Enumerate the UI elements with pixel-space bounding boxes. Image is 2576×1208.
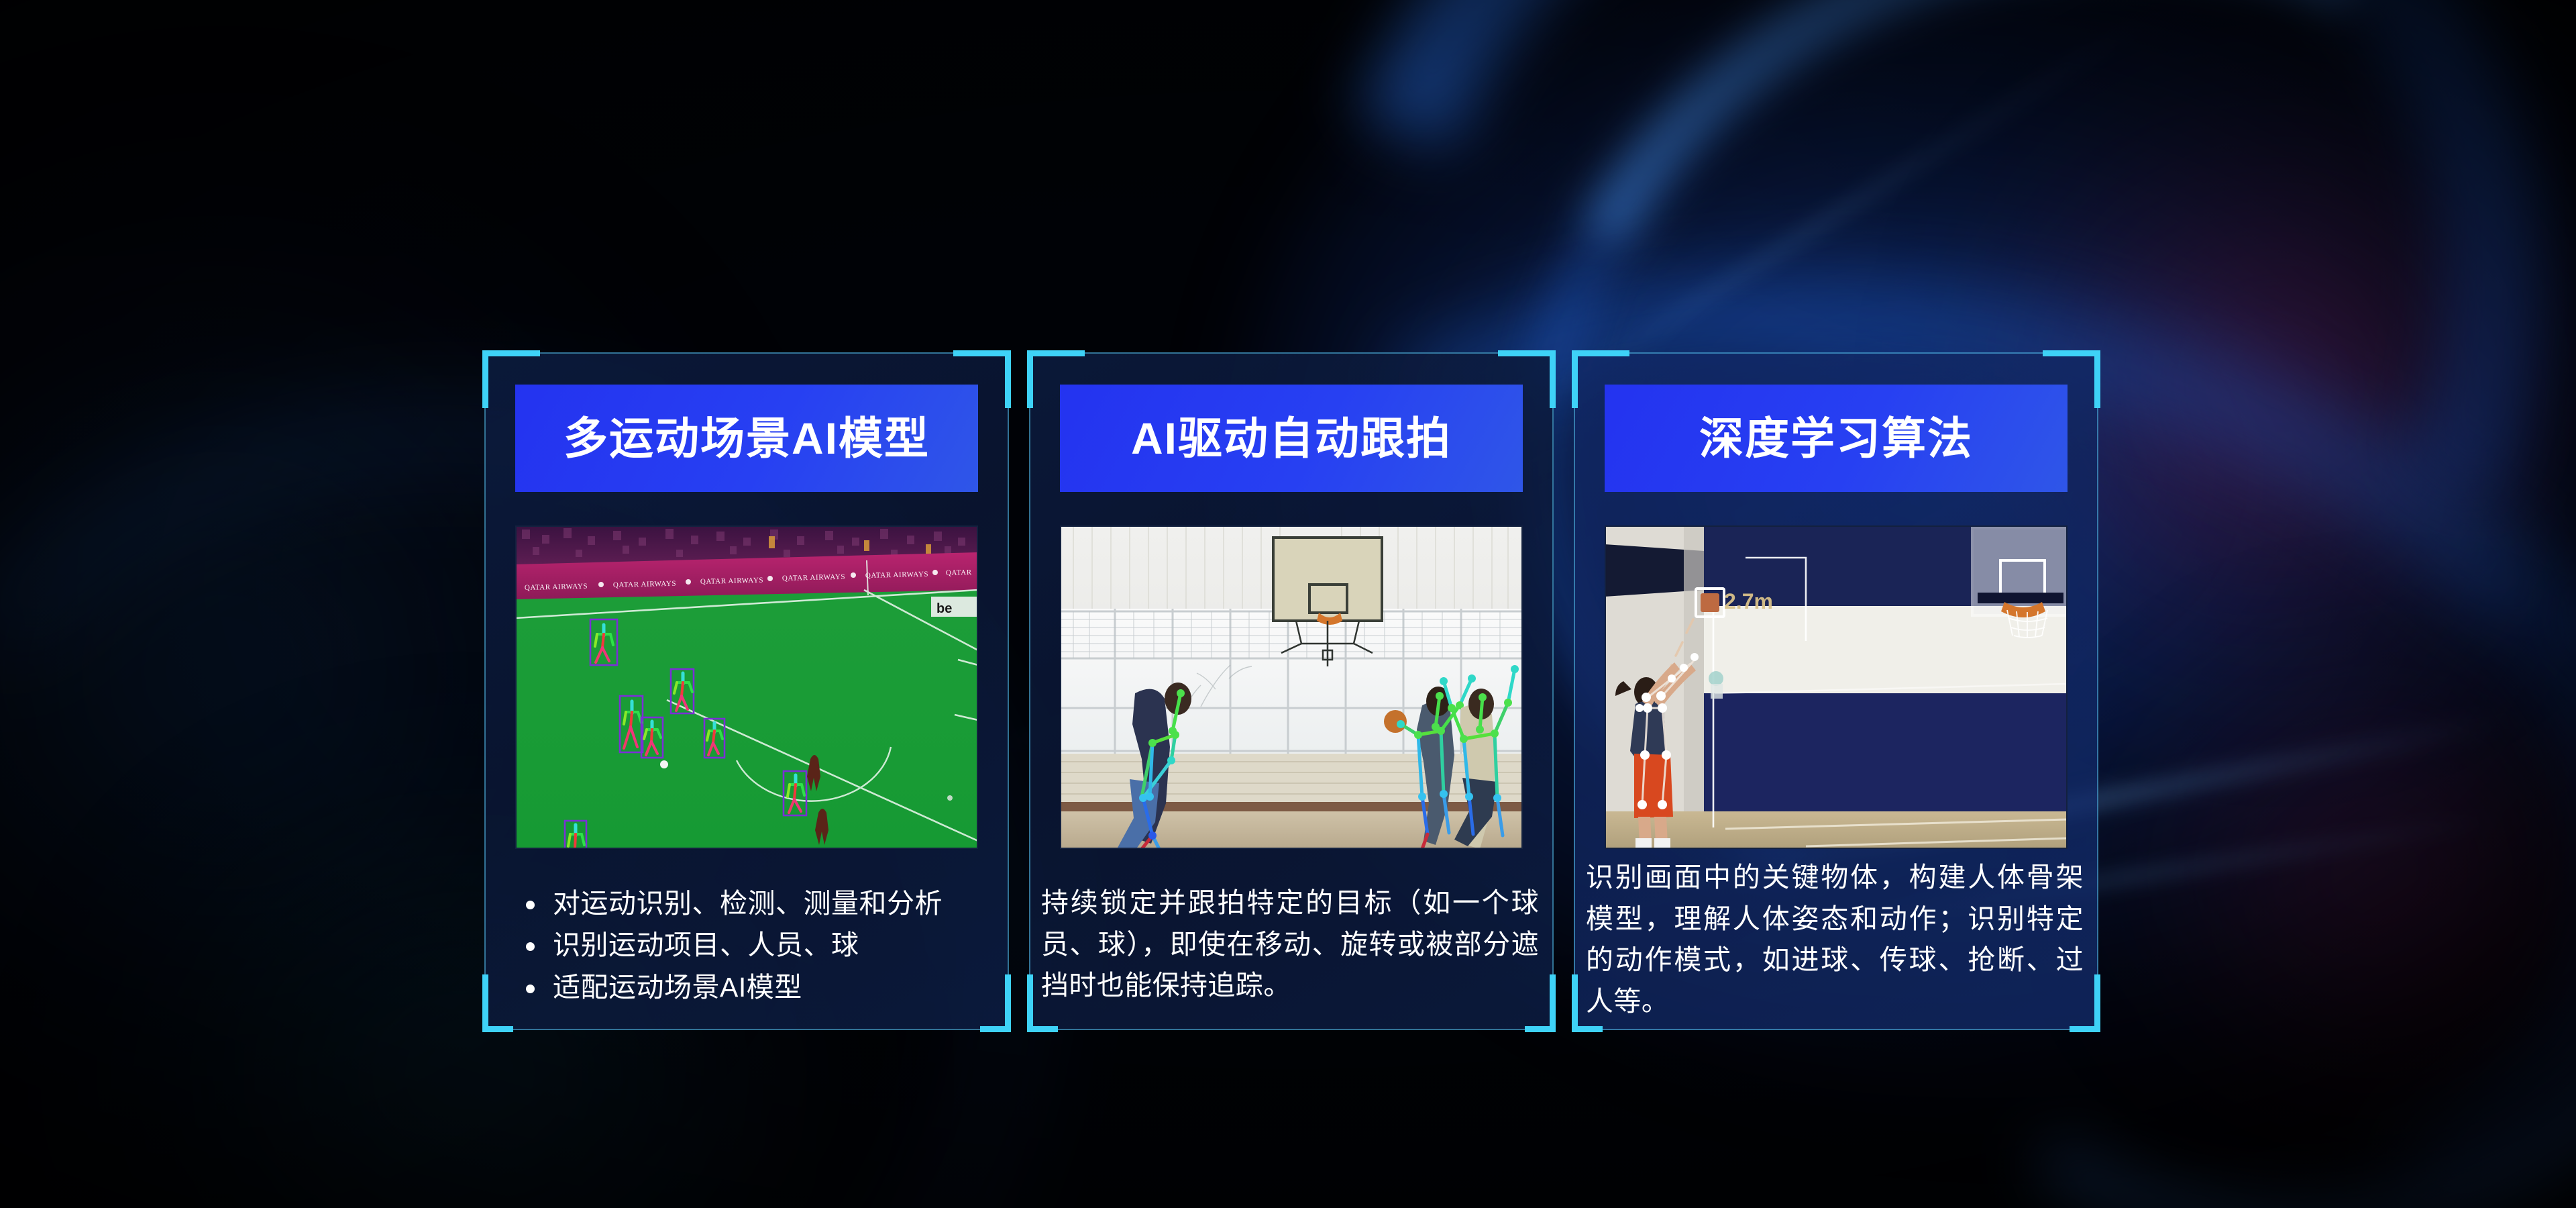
card-body: 持续锁定并跟拍特定的目标（如一个球员、球），即使在移动、旋转或被部分遮挡时也能保… — [1041, 883, 1539, 1007]
basketball-gym-pose-image — [1060, 525, 1523, 849]
feature-card-group: 多运动场景AI模型 — [0, 0, 2576, 1208]
list-item: 对运动识别、检测、测量和分析 — [514, 883, 982, 924]
svg-text:QATAR AIRWAYS: QATAR AIRWAYS — [782, 573, 845, 583]
feature-card-multi-sport-ai-model[interactable]: 多运动场景AI模型 — [484, 352, 1009, 1030]
card-description: 识别画面中的关键物体，构建人体骨架模型，理解人体姿态和动作；识别特定的动作模式，… — [1586, 857, 2084, 1022]
card-title-band: 多运动场景AI模型 — [515, 385, 978, 492]
svg-text:QATAR AIRWAYS: QATAR AIRWAYS — [700, 576, 763, 586]
feature-bullet-list: 对运动识别、检测、测量和分析 识别运动项目、人员、球 适配运动场景AI模型 — [514, 883, 982, 1008]
card-title: 多运动场景AI模型 — [563, 416, 930, 460]
svg-text:2.7m: 2.7m — [1724, 589, 1773, 613]
card-title-band: AI驱动自动跟拍 — [1060, 385, 1523, 492]
card-title: AI驱动自动跟拍 — [1131, 416, 1452, 460]
card-description: 持续锁定并跟拍特定的目标（如一个球员、球），即使在移动、旋转或被部分遮挡时也能保… — [1041, 883, 1539, 1007]
feature-card-ai-auto-tracking[interactable]: AI驱动自动跟拍 — [1029, 352, 1554, 1030]
svg-text:QATAR: QATAR — [946, 568, 972, 577]
list-item: 适配运动场景AI模型 — [514, 966, 982, 1008]
svg-text:be: be — [936, 601, 952, 616]
svg-text:QATAR AIRWAYS: QATAR AIRWAYS — [525, 583, 588, 592]
card-title: 深度学习算法 — [1699, 416, 1973, 460]
soccer-pose-detection-image: QATAR AIRWAYS QATAR AIRWAYS QATAR AIRWAY… — [515, 525, 978, 849]
feature-card-deep-learning-algorithm[interactable]: 深度学习算法 SCORE — [1574, 352, 2098, 1030]
card-body: 识别画面中的关键物体，构建人体骨架模型，理解人体姿态和动作；识别特定的动作模式，… — [1586, 857, 2084, 1022]
card-title-band: 深度学习算法 — [1605, 385, 2068, 492]
basketball-shot-measurement-image: SCORE MATCH SCORE — [1605, 525, 2068, 849]
svg-text:QATAR AIRWAYS: QATAR AIRWAYS — [613, 580, 676, 589]
card-body: 对运动识别、检测、测量和分析 识别运动项目、人员、球 适配运动场景AI模型 — [514, 883, 982, 1008]
svg-text:QATAR AIRWAYS: QATAR AIRWAYS — [865, 570, 928, 580]
list-item: 识别运动项目、人员、球 — [514, 924, 982, 966]
